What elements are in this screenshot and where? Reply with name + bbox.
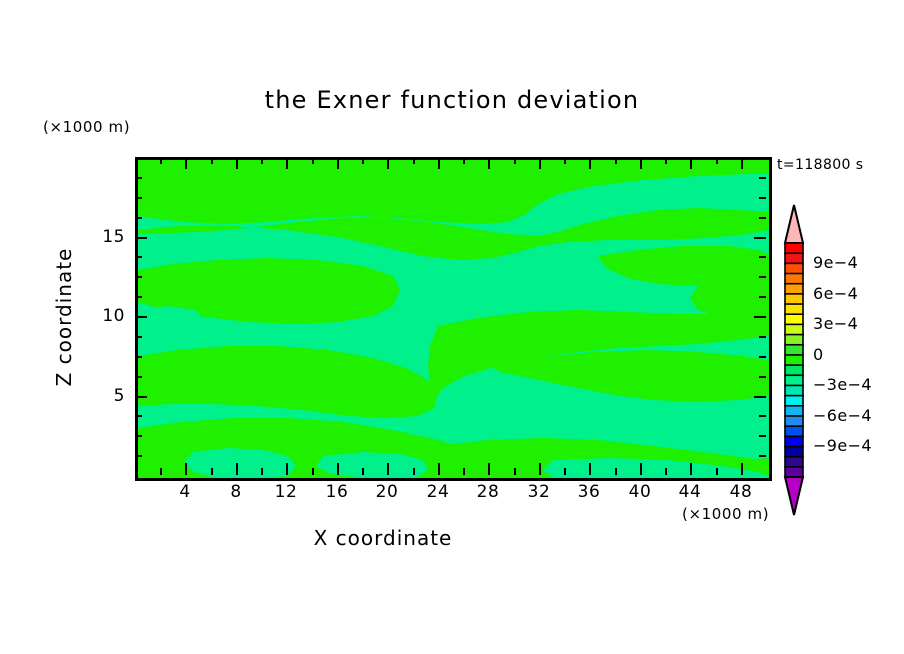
y-tick-minor	[135, 276, 142, 278]
x-tick-label: 28	[468, 482, 508, 502]
plot-area	[135, 157, 772, 481]
x-tick-minor-top	[514, 157, 516, 164]
y-tick-minor-right	[759, 256, 766, 258]
x-tick-major-top	[387, 157, 389, 169]
colorbar-tick-label: 0	[813, 345, 824, 364]
x-tick-major	[387, 463, 389, 475]
x-tick-major	[589, 463, 591, 475]
colorbar-band	[785, 426, 803, 437]
x-tick-major	[539, 463, 541, 475]
y-axis-units-label: (×1000 m)	[43, 118, 130, 136]
y-tick-minor-right	[759, 415, 766, 417]
y-tick-label: 15	[79, 227, 125, 247]
y-tick-minor	[135, 336, 142, 338]
x-tick-major-top	[741, 157, 743, 169]
x-tick-label: 44	[670, 482, 710, 502]
x-tick-label: 36	[569, 482, 609, 502]
x-tick-major	[438, 463, 440, 475]
x-tick-minor	[564, 468, 566, 475]
timestamp-annotation: t=118800 s	[777, 157, 863, 173]
x-tick-minor-top	[665, 157, 667, 164]
y-tick-minor-right	[759, 376, 766, 378]
colorbar-band	[785, 335, 803, 346]
colorbar-band	[785, 294, 803, 305]
y-tick-minor-right	[759, 435, 766, 437]
colorbar-extend-top	[785, 205, 803, 243]
x-tick-minor	[211, 468, 213, 475]
x-tick-major	[236, 463, 238, 475]
x-tick-label: 40	[620, 482, 660, 502]
x-tick-major	[741, 463, 743, 475]
colorbar-band	[785, 365, 803, 376]
y-tick-minor	[135, 177, 142, 179]
y-tick-minor	[135, 356, 142, 358]
colorbar-band	[785, 355, 803, 366]
colorbar-swatches	[783, 203, 805, 517]
y-tick-minor-right	[759, 217, 766, 219]
x-tick-label: 4	[165, 482, 205, 502]
colorbar-tick-label: 3e−4	[813, 314, 858, 333]
y-tick-minor	[135, 415, 142, 417]
x-tick-major	[640, 463, 642, 475]
y-tick-minor	[135, 435, 142, 437]
y-tick-minor-right	[759, 197, 766, 199]
y-tick-minor-right	[759, 336, 766, 338]
y-tick-minor-right	[759, 296, 766, 298]
y-tick-major-right	[754, 396, 766, 398]
x-tick-minor-top	[211, 157, 213, 164]
y-tick-minor	[135, 296, 142, 298]
x-tick-minor-top	[564, 157, 566, 164]
colorbar-band	[785, 375, 803, 386]
y-tick-major	[135, 316, 147, 318]
colorbar-tick-label: −6e−4	[813, 406, 872, 425]
x-tick-major-top	[236, 157, 238, 169]
x-tick-major-top	[438, 157, 440, 169]
colorbar-band	[785, 314, 803, 325]
x-tick-minor-top	[413, 157, 415, 164]
y-tick-label: 5	[79, 386, 125, 406]
colorbar-band	[785, 457, 803, 468]
x-tick-major	[337, 463, 339, 475]
x-tick-label: 8	[216, 482, 256, 502]
x-tick-minor-top	[716, 157, 718, 164]
y-tick-minor-right	[759, 455, 766, 457]
x-tick-major-top	[690, 157, 692, 169]
x-tick-label: 20	[367, 482, 407, 502]
x-axis-units-label: (×1000 m)	[682, 505, 769, 523]
x-tick-minor	[665, 468, 667, 475]
x-tick-minor	[413, 468, 415, 475]
y-tick-major-right	[754, 316, 766, 318]
x-tick-minor	[312, 468, 314, 475]
colorbar-band	[785, 385, 803, 396]
y-tick-minor	[135, 455, 142, 457]
y-tick-major	[135, 396, 147, 398]
x-tick-label: 32	[519, 482, 559, 502]
x-tick-major	[488, 463, 490, 475]
x-axis-title: X coordinate	[0, 526, 766, 550]
colorbar-band	[785, 284, 803, 295]
colorbar-band	[785, 304, 803, 315]
x-tick-minor	[514, 468, 516, 475]
x-tick-major	[690, 463, 692, 475]
x-tick-major-top	[286, 157, 288, 169]
x-tick-major-top	[539, 157, 541, 169]
colorbar-band	[785, 446, 803, 457]
colorbar-band	[785, 345, 803, 356]
y-tick-major	[135, 237, 147, 239]
colorbar-band	[785, 253, 803, 264]
x-tick-major-top	[185, 157, 187, 169]
x-tick-minor	[615, 468, 617, 475]
y-tick-minor	[135, 217, 142, 219]
x-tick-minor-top	[615, 157, 617, 164]
y-tick-minor	[135, 256, 142, 258]
y-tick-major-right	[754, 237, 766, 239]
colorbar-tick-label: 9e−4	[813, 253, 858, 272]
y-tick-label: 10	[79, 306, 125, 326]
colorbar-band	[785, 406, 803, 417]
x-tick-major-top	[589, 157, 591, 169]
colorbar-band	[785, 274, 803, 285]
colorbar-tick-label: −3e−4	[813, 375, 872, 394]
colorbar-band	[785, 263, 803, 274]
x-tick-minor	[362, 468, 364, 475]
colorbar-tick-label: −9e−4	[813, 436, 872, 455]
x-tick-minor-top	[312, 157, 314, 164]
x-tick-major-top	[488, 157, 490, 169]
colorbar-band	[785, 396, 803, 407]
colorbar-band	[785, 243, 803, 254]
x-tick-minor	[463, 468, 465, 475]
y-axis-title: Z coordinate	[52, 217, 76, 417]
x-tick-minor-top	[160, 157, 162, 164]
page-title: the Exner function deviation	[0, 86, 904, 114]
x-tick-minor-top	[362, 157, 364, 164]
x-tick-minor	[716, 468, 718, 475]
x-tick-major	[286, 463, 288, 475]
x-tick-major	[185, 463, 187, 475]
colorbar-tick-label: 6e−4	[813, 284, 858, 303]
x-tick-major-top	[640, 157, 642, 169]
colorbar-band	[785, 324, 803, 335]
x-tick-minor	[261, 468, 263, 475]
y-tick-minor-right	[759, 177, 766, 179]
x-tick-minor-top	[261, 157, 263, 164]
y-tick-minor-right	[759, 356, 766, 358]
contour-figure: the Exner function deviation (×1000 m) (…	[0, 0, 904, 654]
x-tick-minor-top	[463, 157, 465, 164]
colorbar-band	[785, 467, 803, 478]
colorbar-band	[785, 436, 803, 447]
x-tick-label: 24	[418, 482, 458, 502]
colorbar-band	[785, 416, 803, 427]
x-tick-major-top	[337, 157, 339, 169]
x-tick-minor	[160, 468, 162, 475]
colorbar[interactable]	[783, 203, 805, 517]
x-tick-label: 16	[317, 482, 357, 502]
contour-field	[138, 160, 769, 478]
y-tick-minor	[135, 376, 142, 378]
y-tick-minor	[135, 197, 142, 199]
colorbar-extend-bottom	[785, 477, 803, 515]
x-tick-label: 12	[266, 482, 306, 502]
x-tick-label: 48	[721, 482, 761, 502]
y-tick-minor-right	[759, 276, 766, 278]
